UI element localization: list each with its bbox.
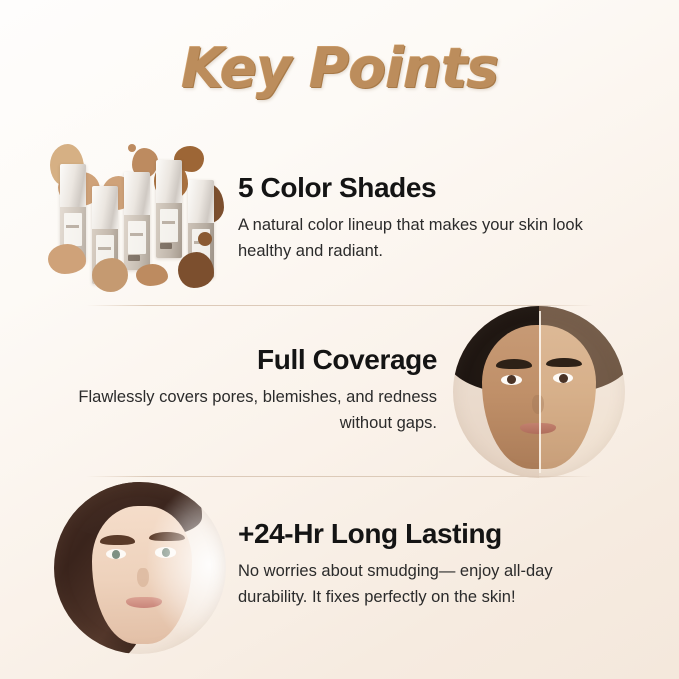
shade-swatch-9 — [92, 258, 128, 292]
feature-row-full-coverage: Full Coverage Flawlessly covers pores, b… — [0, 306, 679, 474]
feature-heading-full-coverage: Full Coverage — [62, 344, 437, 376]
right-brow — [546, 358, 582, 367]
section-divider-2 — [86, 476, 593, 477]
feature-heading-long-lasting: +24-Hr Long Lasting — [238, 518, 609, 550]
page-title: Key Points — [181, 36, 498, 100]
tube-label — [160, 209, 179, 242]
feature-body-long-lasting: No worries about smudging— enjoy all-day… — [238, 558, 609, 610]
shade-dot-1 — [128, 144, 136, 152]
left-eye — [501, 375, 522, 385]
tube-shade-band — [160, 243, 172, 249]
tube-label — [128, 221, 147, 254]
foundation-tubes-illustration — [46, 140, 236, 300]
tube-label — [64, 213, 83, 246]
feature-heading-color-shades: 5 Color Shades — [238, 172, 609, 204]
tube-cap — [92, 186, 118, 229]
feature-body-color-shades: A natural color lineup that makes your s… — [238, 212, 609, 264]
shade-swatch-10 — [136, 264, 168, 286]
after-half-overlay — [539, 306, 625, 478]
tube-shade-band — [128, 255, 140, 261]
tube-cap — [188, 180, 214, 223]
product-lineup-image — [46, 140, 236, 300]
shade-swatch-8 — [48, 244, 86, 274]
shade-dot-3 — [198, 232, 212, 246]
tube-cap — [156, 160, 182, 203]
before-after-divider — [539, 311, 541, 473]
highlight-glow — [147, 489, 226, 647]
left-brow — [100, 535, 134, 544]
split-face-illustration — [453, 306, 625, 478]
model-face-photo — [54, 482, 226, 654]
circular-photo-frame — [54, 482, 226, 654]
circular-photo-frame — [453, 306, 625, 478]
feature-row-long-lasting: +24-Hr Long Lasting No worries about smu… — [0, 478, 679, 650]
tube-cap — [60, 164, 86, 207]
key-points-infographic: Key Points — [0, 0, 679, 679]
feature-body-full-coverage: Flawlessly covers pores, blemishes, and … — [62, 384, 437, 436]
before-after-face-photo — [453, 306, 625, 478]
left-brow — [496, 359, 532, 368]
page-title-container: Key Points — [0, 36, 679, 100]
foundation-tube-3 — [124, 172, 150, 270]
feature-row-color-shades: 5 Color Shades A natural color lineup th… — [0, 134, 679, 302]
tube-cap — [124, 172, 150, 215]
shade-swatch-11 — [178, 252, 214, 288]
foundation-tube-4 — [156, 160, 182, 258]
model-face-illustration — [54, 482, 226, 654]
